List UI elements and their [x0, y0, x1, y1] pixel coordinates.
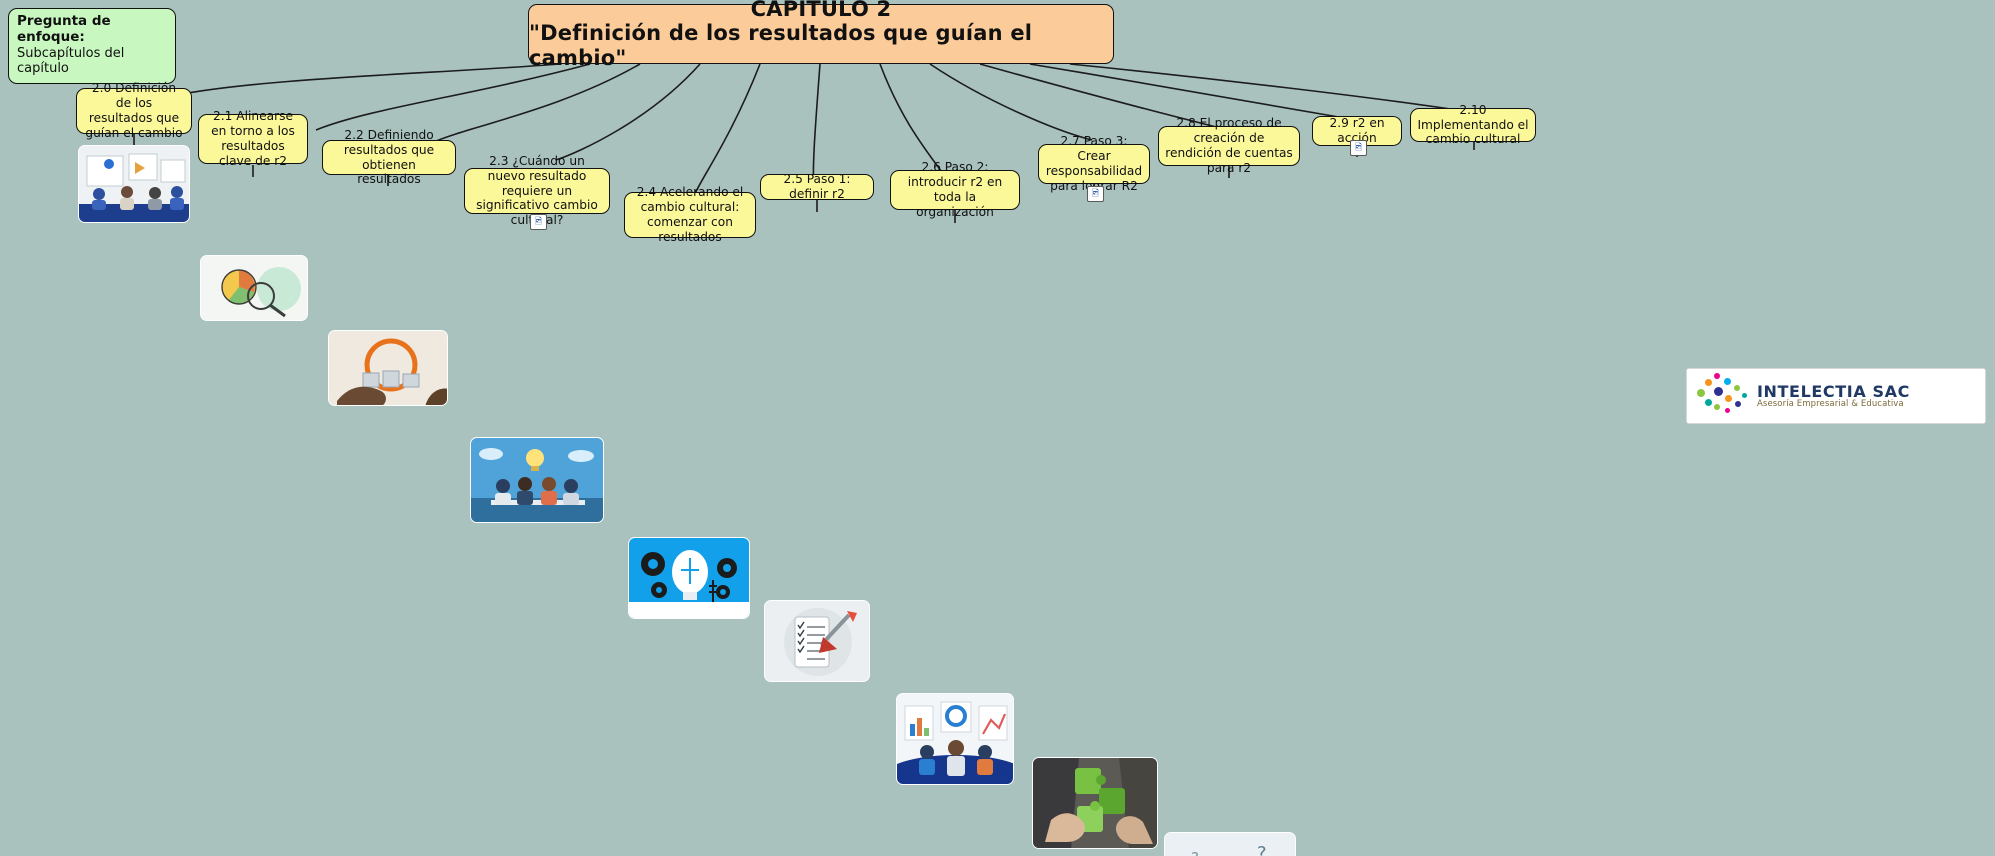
company-logo: INTELECTIA SAC Asesoría Empresarial & Ed… — [1686, 368, 1986, 424]
connector-to-2-9 — [1030, 64, 1356, 120]
node-text: 2.6 Paso 2: introducir r2 en toda la org… — [897, 160, 1013, 219]
chapter-title-box: CAPÍTULO 2 "Definición de los resultados… — [528, 4, 1114, 64]
connector-to-2-10 — [1070, 64, 1470, 112]
connector-to-2-4 — [694, 64, 760, 196]
logo-company-name: INTELECTIA SAC — [1757, 383, 1910, 401]
node-image-2-7[interactable] — [1032, 757, 1158, 849]
picture-placeholder-icon-2-3: 🖻 — [530, 214, 547, 230]
svg-text:?: ? — [1257, 843, 1267, 856]
node-text: 2.0 Definición de los resultados que guí… — [83, 81, 185, 140]
node-label-2-10[interactable]: 2.10 Implementando el cambio cultural — [1410, 108, 1536, 142]
node-label-2-5[interactable]: 2.5 Paso 1: definir r2 — [760, 174, 874, 200]
node-text: 2.10 Implementando el cambio cultural — [1417, 103, 1529, 147]
node-label-2-0[interactable]: 2.0 Definición de los resultados que guí… — [76, 88, 192, 134]
node-label-2-1[interactable]: 2.1 Alinearse en torno a los resultados … — [198, 114, 308, 164]
puzzle-pieces-photo-art — [1033, 758, 1157, 848]
legend-subtitle: Subcapítulos del capítulo — [17, 46, 167, 77]
logo-text: INTELECTIA SAC Asesoría Empresarial & Ed… — [1757, 383, 1910, 410]
connector-to-2-5 — [813, 64, 820, 188]
node-text: 2.4 Acelerando el cambio cultural: comen… — [631, 185, 749, 244]
connector-to-2-3 — [556, 64, 700, 160]
node-image-2-6[interactable] — [896, 693, 1014, 785]
node-image-2-3[interactable] — [470, 437, 604, 523]
checklist-dart-illustration-art — [765, 601, 869, 681]
connector-to-2-0 — [172, 64, 560, 96]
chapter-title-line2: "Definición de los resultados que guían … — [529, 21, 1113, 71]
node-label-2-8[interactable]: 2.8 El proceso de creación de rendición … — [1158, 126, 1300, 166]
connector-to-2-7 — [930, 64, 1092, 140]
magnifier-pie-chart-art — [201, 256, 307, 320]
node-image-2-4[interactable] — [628, 537, 750, 619]
svg-text:?: ? — [1191, 849, 1199, 856]
node-label-2-7[interactable]: 2.7 Paso 3: Crear responsabilidad para l… — [1038, 144, 1150, 184]
node-label-2-3[interactable]: 2.3 ¿Cuándo un nuevo resultado requiere … — [464, 168, 610, 214]
team-ideas-illustration-art — [471, 438, 603, 522]
legend-title: Pregunta de enfoque: — [17, 14, 167, 46]
node-image-2-2[interactable] — [328, 330, 448, 406]
node-label-2-4[interactable]: 2.4 Acelerando el cambio cultural: comen… — [624, 192, 756, 238]
mindmap-canvas: Pregunta de enfoque: Subcapítulos del ca… — [0, 0, 1995, 428]
node-label-2-2[interactable]: 2.2 Definiendo resultados que obtienen r… — [322, 140, 456, 175]
picture-placeholder-icon-2-7: 🖻 — [1087, 186, 1104, 202]
node-image-2-1[interactable] — [200, 255, 308, 321]
connector-to-2-2 — [434, 64, 640, 142]
picture-placeholder-icon-2-9: 🖻 — [1350, 140, 1367, 156]
chapter-title-line1: CAPÍTULO 2 — [751, 0, 892, 21]
choosing-path-illustration-art: ? ? — [1165, 833, 1295, 856]
node-image-2-8[interactable]: ? ? — [1164, 832, 1296, 856]
logo-tagline: Asesoría Empresarial & Educativa — [1757, 400, 1910, 409]
team-charts-illustration-art — [897, 694, 1013, 784]
node-image-2-5[interactable] — [764, 600, 870, 682]
node-text: 2.8 El proceso de creación de rendición … — [1165, 116, 1293, 175]
node-text: 2.1 Alinearse en torno a los resultados … — [205, 109, 301, 168]
node-text: 2.7 Paso 3: Crear responsabilidad para l… — [1045, 134, 1143, 193]
whiteboard-photo-art — [79, 146, 189, 222]
gears-lightbulb-illustration-art — [629, 538, 749, 618]
focus-question-legend: Pregunta de enfoque: Subcapítulos del ca… — [8, 8, 176, 84]
hand-drawing-target-photo-art — [329, 331, 447, 405]
logo-dots-icon — [1695, 373, 1749, 419]
node-text: 2.5 Paso 1: definir r2 — [767, 172, 867, 202]
connector-to-2-1 — [316, 64, 590, 130]
node-image-2-0[interactable] — [78, 145, 190, 223]
node-text: 2.2 Definiendo resultados que obtienen r… — [329, 128, 449, 187]
node-label-2-6[interactable]: 2.6 Paso 2: introducir r2 en toda la org… — [890, 170, 1020, 210]
